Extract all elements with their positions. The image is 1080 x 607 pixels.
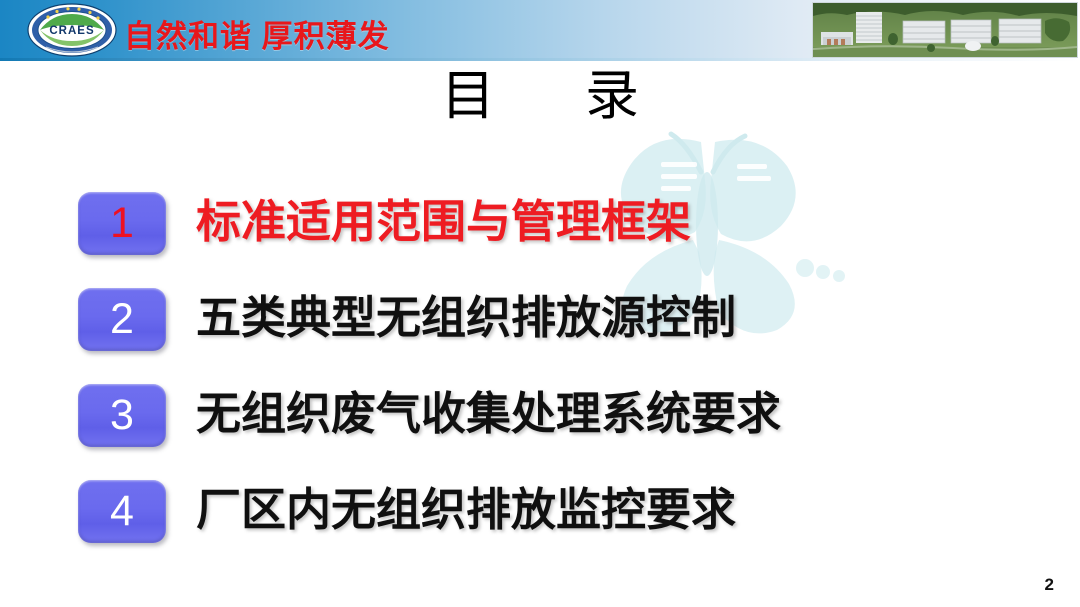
toc-number-1: 1	[110, 202, 134, 245]
toc-item-1[interactable]: 1 标准适用范围与管理框架	[0, 186, 1080, 282]
page-title: 目 录	[0, 68, 1080, 125]
toc-item-3[interactable]: 3 无组织废气收集处理系统要求	[0, 378, 1080, 474]
toc-label-1: 标准适用范围与管理框架	[196, 188, 691, 256]
toc-label-3: 无组织废气收集处理系统要求	[196, 380, 781, 448]
toc-number-badge-3[interactable]: 3	[78, 384, 166, 447]
header-divider	[0, 58, 1080, 61]
toc-number-badge-2[interactable]: 2	[78, 288, 166, 351]
svg-text:CRAES: CRAES	[49, 25, 94, 37]
header-slogan: 自然和谐 厚积薄发	[124, 11, 390, 56]
table-of-contents: 1 标准适用范围与管理框架 2 五类典型无组织排放源控制 3 无组织废气收集处理…	[0, 186, 1080, 570]
toc-number-3: 3	[110, 394, 134, 437]
campus-aerial-photo	[812, 2, 1078, 58]
toc-number-4: 4	[110, 490, 134, 533]
page-number: 2	[1045, 575, 1054, 595]
presentation-slide: CRAES 自然和谐 厚积薄发	[0, 0, 1080, 607]
toc-label-4: 厂区内无组织排放监控要求	[196, 476, 736, 544]
toc-number-badge-4[interactable]: 4	[78, 480, 166, 543]
toc-number-badge-1[interactable]: 1	[78, 192, 166, 255]
toc-label-2: 五类典型无组织排放源控制	[196, 284, 736, 352]
toc-number-2: 2	[110, 298, 134, 341]
craes-logo: CRAES	[26, 3, 118, 57]
toc-item-2[interactable]: 2 五类典型无组织排放源控制	[0, 282, 1080, 378]
toc-item-4[interactable]: 4 厂区内无组织排放监控要求	[0, 474, 1080, 570]
